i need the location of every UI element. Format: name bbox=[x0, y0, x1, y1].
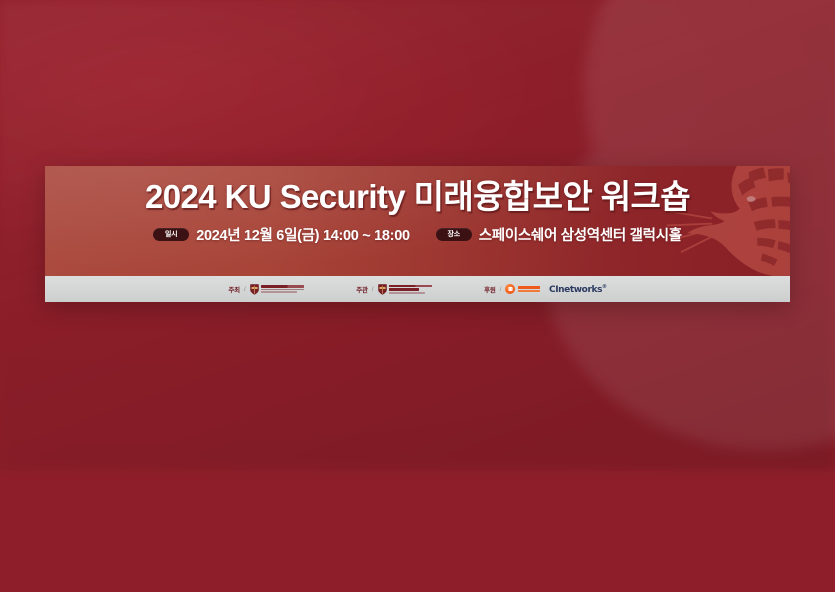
ku-wordmark bbox=[261, 285, 304, 293]
banner-meta-venue: 장소 스페이스쉐어 삼성역센터 갤럭시홀 bbox=[436, 224, 682, 245]
ku-wordmark bbox=[389, 285, 432, 294]
banner-logo-strip: 주최 / 주관 / bbox=[45, 276, 790, 302]
banner-content: 2024 KU Security 미래융합보안 워크숍 일시 2024년 12월… bbox=[45, 166, 790, 276]
credit-sponsor: 후원 / CInetworks® bbox=[484, 284, 607, 295]
cinetworks-wordmark: CInetworks bbox=[549, 285, 602, 295]
banner-meta-row: 일시 2024년 12월 6일(금) 14:00 ~ 18:00 장소 스페이스… bbox=[153, 224, 682, 245]
banner-meta-datetime: 일시 2024년 12월 6일(금) 14:00 ~ 18:00 bbox=[153, 224, 410, 245]
credit-host-label: 주최 bbox=[228, 284, 240, 294]
ssnc-mark bbox=[505, 284, 515, 294]
venue-value: 스페이스쉐어 삼성역센터 갤럭시홀 bbox=[479, 224, 682, 245]
credit-organizer-label: 주관 bbox=[356, 284, 368, 294]
ssnc-logo-icon bbox=[505, 284, 540, 294]
datetime-value: 2024년 12월 6일(금) 14:00 ~ 18:00 bbox=[196, 224, 410, 245]
datetime-pill-label: 일시 bbox=[153, 228, 189, 241]
event-banner: 2024 KU Security 미래융합보안 워크숍 일시 2024년 12월… bbox=[45, 166, 790, 302]
credit-organizer: 주관 / bbox=[356, 284, 432, 295]
credit-host-slash: / bbox=[244, 286, 246, 293]
ssnc-wordmark bbox=[518, 286, 540, 293]
cinetworks-logo-icon: CInetworks® bbox=[549, 284, 607, 295]
banner-title: 2024 KU Security 미래융합보안 워크숍 bbox=[145, 179, 690, 215]
venue-pill-label: 장소 bbox=[436, 228, 472, 241]
credit-sponsor-slash: / bbox=[500, 286, 502, 293]
credit-host: 주최 / bbox=[228, 284, 304, 295]
cinetworks-trademark: ® bbox=[602, 284, 607, 290]
korea-university-institute-of-information-security-logo-icon bbox=[250, 284, 305, 295]
credit-organizer-slash: / bbox=[372, 286, 374, 293]
credit-sponsor-label: 후원 bbox=[484, 284, 496, 294]
korea-university-bk21-education-research-group-logo-icon bbox=[378, 284, 433, 295]
